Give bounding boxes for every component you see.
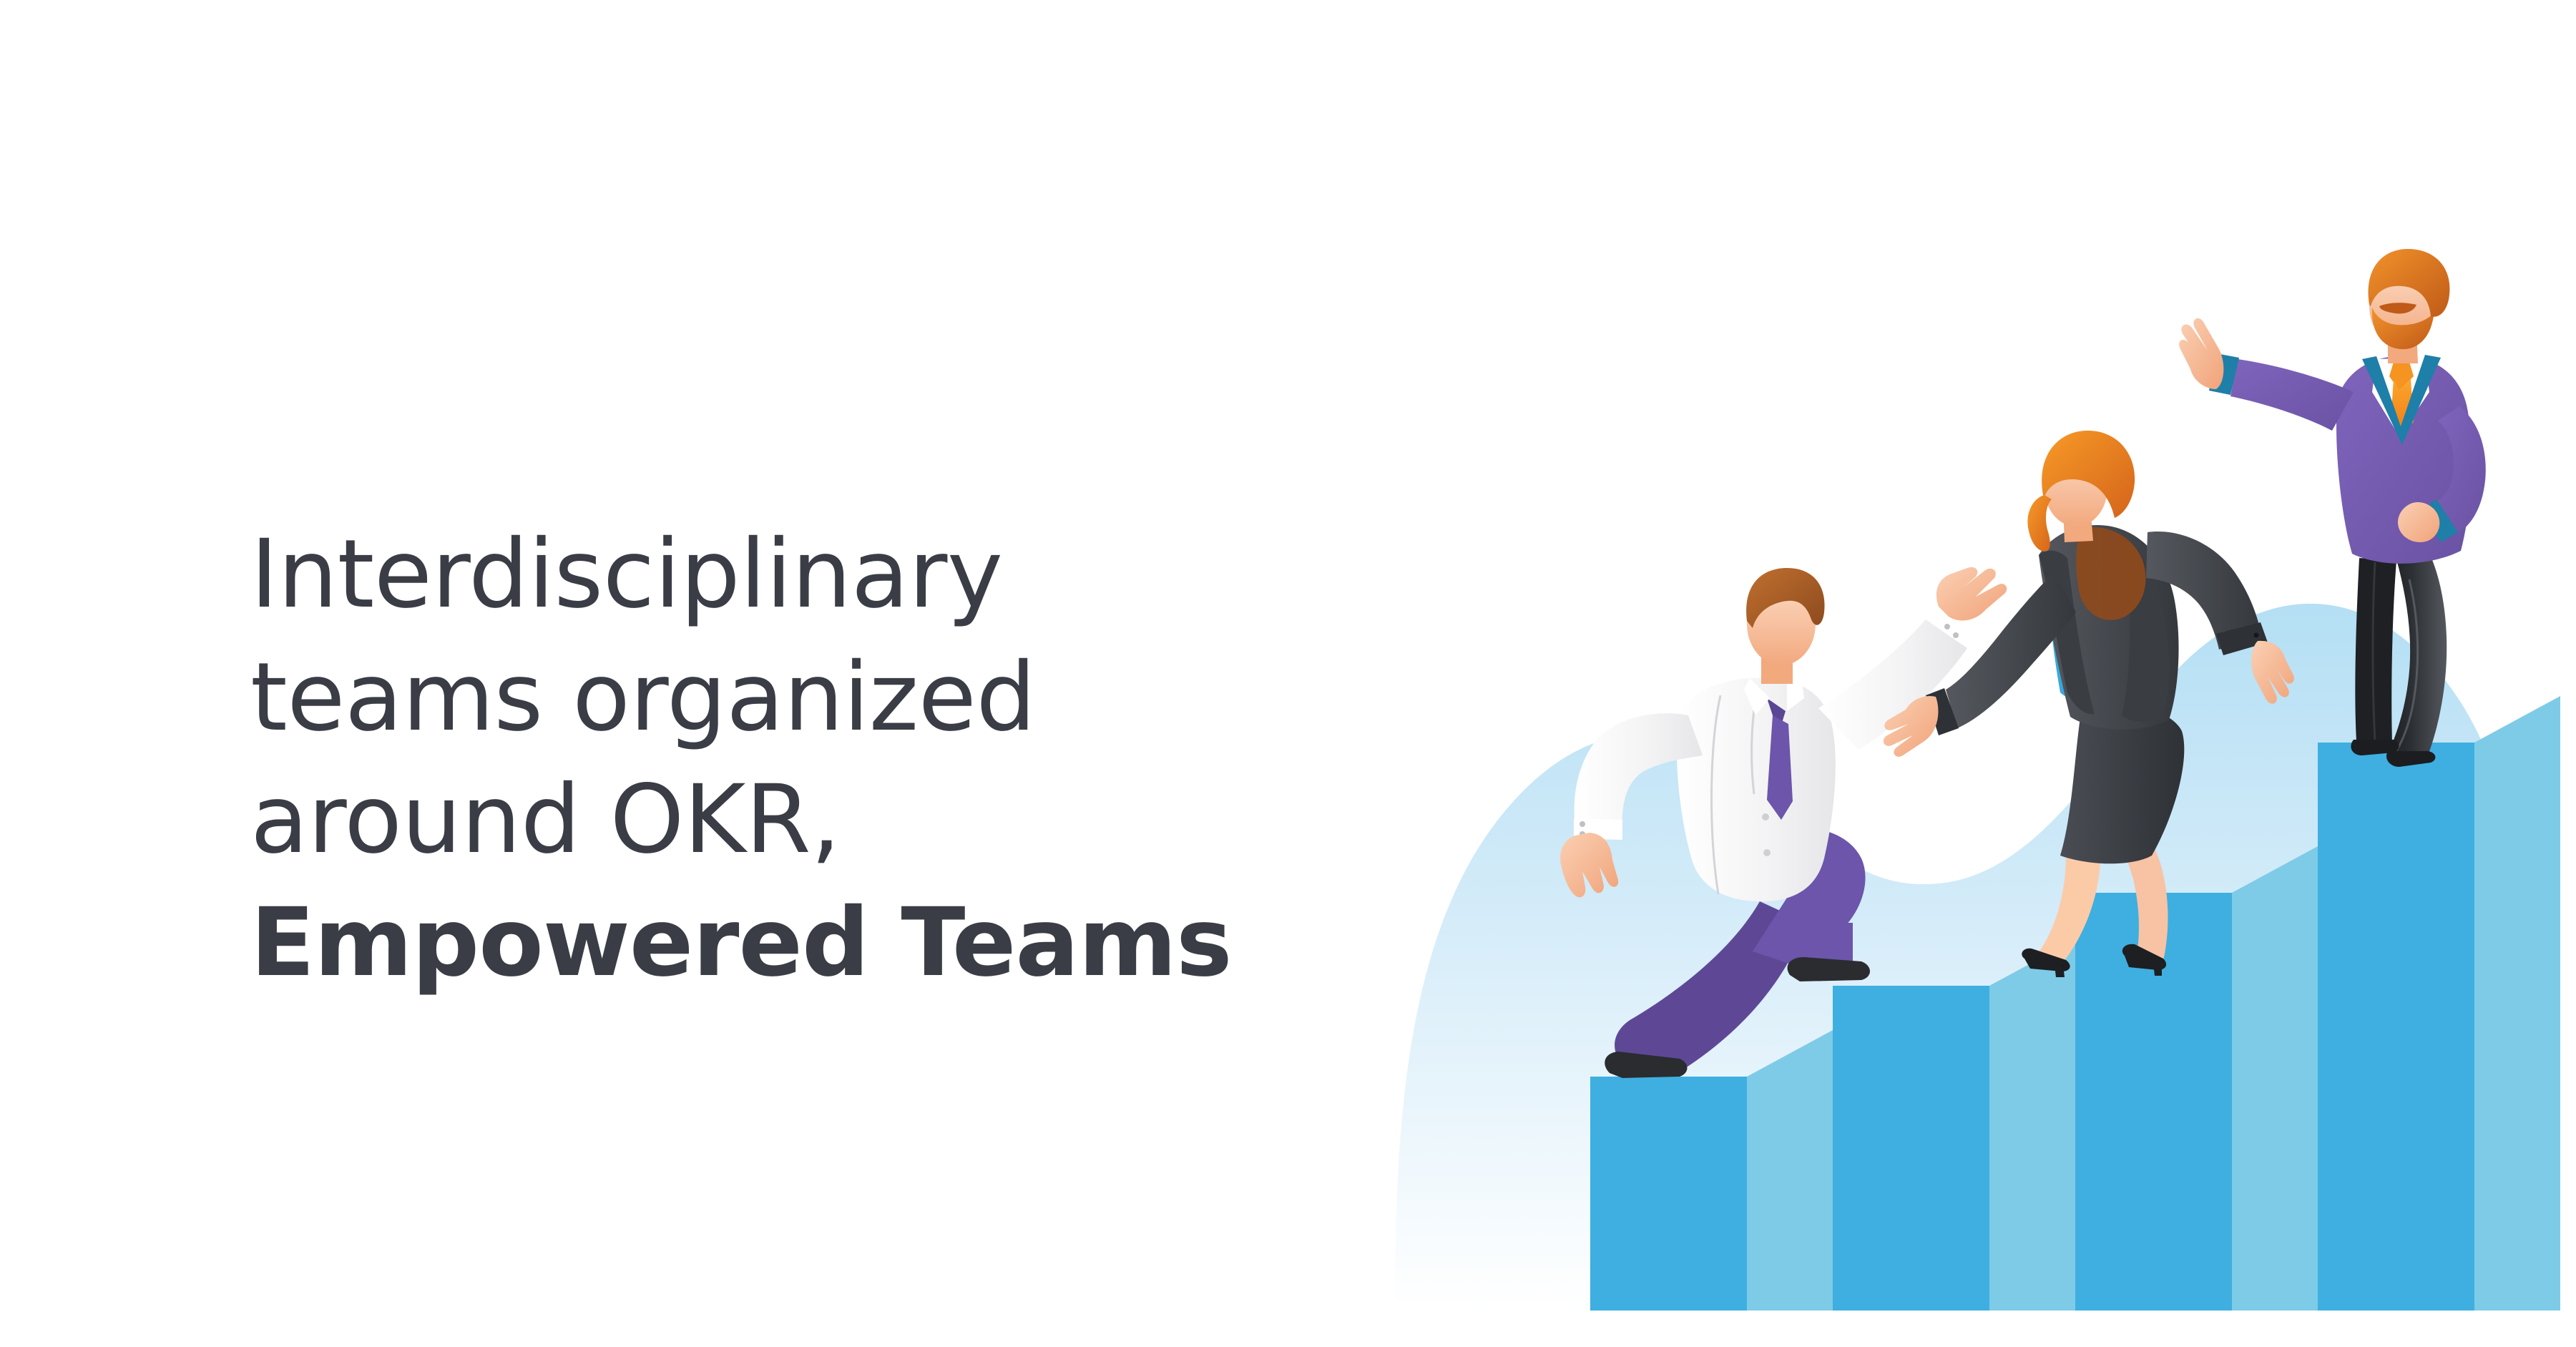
team-climbing-bar-chart-illustration <box>1395 215 2576 1347</box>
standing-man-left-arm <box>2230 359 2354 431</box>
headline-line-3: around OKR, <box>250 765 841 875</box>
right-hand <box>1936 567 2007 621</box>
standing-man-raised-hand <box>2179 318 2223 389</box>
standing-man-left-leg <box>2355 558 2396 744</box>
illustration-svg <box>1395 215 2576 1347</box>
headline-line-1: Interdisciplinary <box>250 519 1003 630</box>
chart-bar-3 <box>2075 846 2318 1311</box>
woman-ponytail <box>2027 495 2052 552</box>
slide-canvas: Interdisciplinary teams organized around… <box>0 0 2576 1347</box>
chart-bar-4 <box>2318 696 2560 1311</box>
headline-emphasis: Empowered Teams <box>250 882 1466 1005</box>
headline-line-2: teams organized <box>250 642 1036 753</box>
chart-bar-2 <box>1833 939 2075 1311</box>
page-title: Interdisciplinary teams organized around… <box>250 514 1466 1004</box>
headline-block: Interdisciplinary teams organized around… <box>250 514 1466 1004</box>
